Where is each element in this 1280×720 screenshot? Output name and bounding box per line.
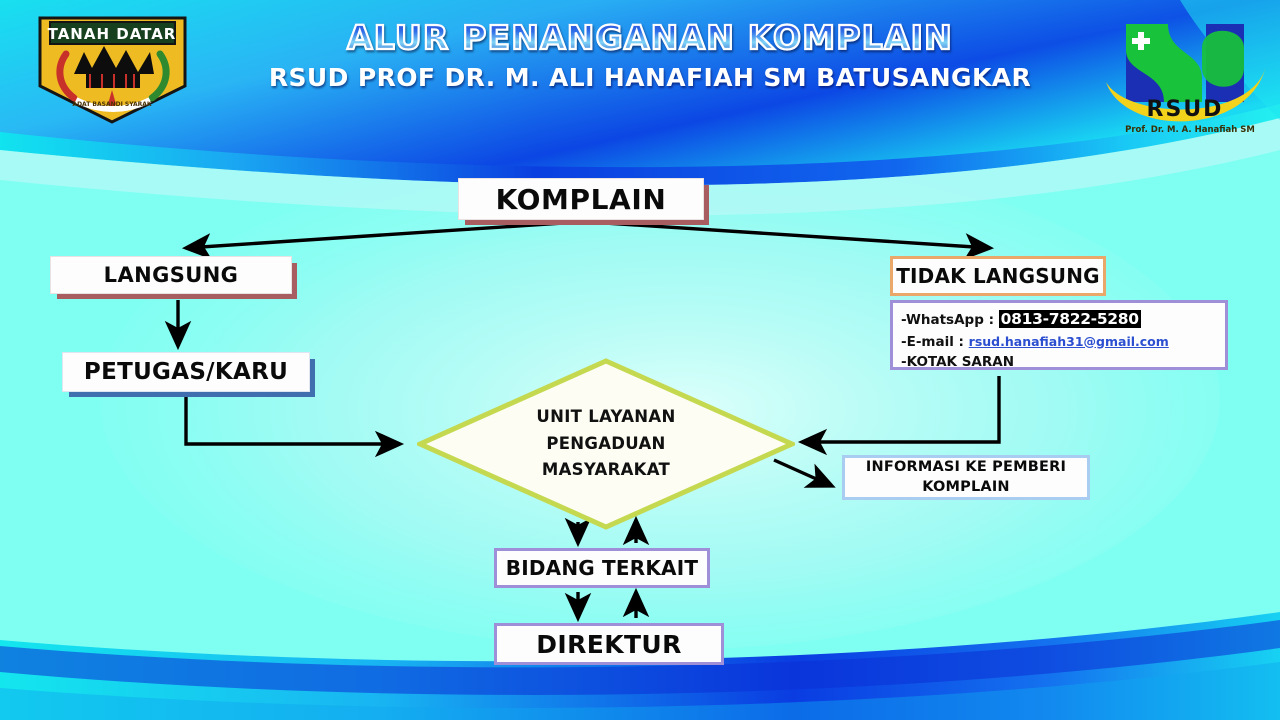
svg-text:TANAH DATAR: TANAH DATAR [48, 25, 177, 43]
node-langsung-label: LANGSUNG [104, 263, 239, 287]
node-bidang-terkait-label: BIDANG TERKAIT [506, 556, 698, 580]
informasi-text: INFORMASI KE PEMBERI KOMPLAIN [866, 458, 1066, 497]
diamond-line-1: UNIT LAYANAN [536, 404, 675, 431]
diamond-line-2: PENGADUAN [546, 431, 665, 458]
poster-canvas: ALUR PENANGANAN KOMPLAIN RSUD PROF DR. M… [0, 0, 1280, 720]
diamond-line-3: MASYARAKAT [542, 457, 670, 484]
whatsapp-number[interactable]: 0813-7822-5280 [999, 310, 1141, 328]
node-petugas-karu[interactable]: PETUGAS/KARU [62, 352, 310, 392]
tanah-datar-emblem-icon: TANAH DATAR ADAT BASANDI SYARAK [30, 12, 195, 127]
contact-whatsapp-row: -WhatsApp : 0813-7822-5280 [901, 308, 1225, 332]
contact-email-row: -E-mail : rsud.hanafiah31@gmail.com [901, 332, 1225, 353]
email-address-link[interactable]: rsud.hanafiah31@gmail.com [969, 334, 1169, 349]
node-tidak-langsung-label: TIDAK LANGSUNG [896, 264, 1100, 288]
informasi-line-1: INFORMASI KE PEMBERI [866, 458, 1066, 478]
svg-text:Prof. Dr. M. A. Hanafiah SM: Prof. Dr. M. A. Hanafiah SM [1125, 125, 1255, 135]
node-informasi-ke-pemberi-komplain[interactable]: INFORMASI KE PEMBERI KOMPLAIN [842, 455, 1090, 500]
node-direktur[interactable]: DIREKTUR [494, 623, 724, 665]
node-komplain-label: KOMPLAIN [496, 183, 667, 216]
node-unit-layanan-pengaduan-masyarakat[interactable]: UNIT LAYANAN PENGADUAN MASYARAKAT [417, 358, 795, 530]
rsud-logo-icon: RSUD Prof. Dr. M. A. Hanafiah SM [1098, 8, 1273, 138]
svg-text:RSUD: RSUD [1147, 97, 1224, 122]
svg-text:ADAT BASANDI SYARAK: ADAT BASANDI SYARAK [72, 101, 151, 108]
whatsapp-label: -WhatsApp : [901, 312, 999, 328]
kotak-saran-row: -KOTAK SARAN [901, 352, 1225, 373]
node-direktur-label: DIREKTUR [536, 630, 682, 659]
node-langsung[interactable]: LANGSUNG [50, 256, 292, 294]
informasi-line-2: KOMPLAIN [866, 478, 1066, 498]
email-label: -E-mail : [901, 334, 969, 350]
node-komplain[interactable]: KOMPLAIN [458, 178, 704, 220]
contact-details-box[interactable]: -WhatsApp : 0813-7822-5280 -E-mail : rsu… [890, 300, 1228, 370]
diamond-text: UNIT LAYANAN PENGADUAN MASYARAKAT [417, 358, 795, 530]
node-tidak-langsung[interactable]: TIDAK LANGSUNG [890, 256, 1106, 296]
node-bidang-terkait[interactable]: BIDANG TERKAIT [494, 548, 710, 588]
node-petugas-karu-label: PETUGAS/KARU [84, 359, 288, 385]
